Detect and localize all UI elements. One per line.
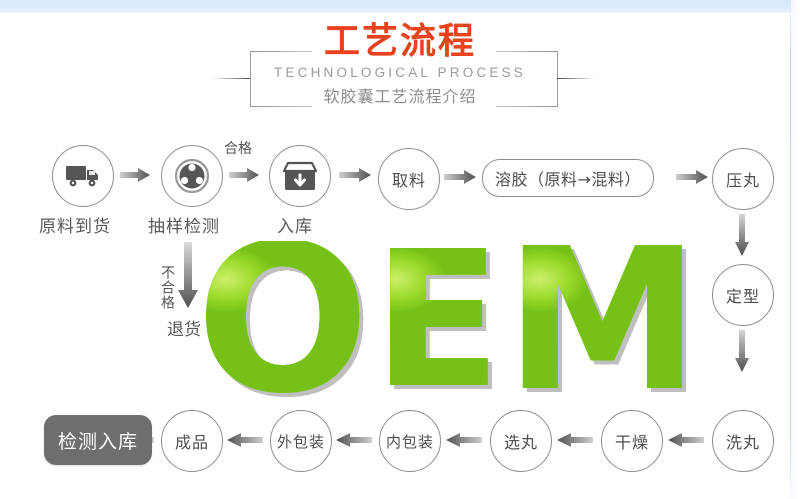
arrow-select-to-inner [446, 433, 482, 447]
arrow-press-to-shaping [735, 214, 749, 256]
arrow-warehouse-to-pick [339, 168, 371, 182]
arrow-pick-to-solgel [444, 170, 476, 184]
arrow-outer-to-finished [227, 433, 263, 447]
node-sampling-inspection[interactable] [161, 145, 223, 207]
node-label-inner-package: 内包装 [386, 431, 434, 452]
node-material-pick[interactable]: 取料 [378, 148, 440, 210]
inbox-down-icon [283, 160, 317, 192]
arrow-sampling-to-warehouse [229, 168, 259, 182]
arrow-wash-to-drying [668, 433, 704, 447]
node-inspect-stock-in[interactable]: 检测入库 [44, 415, 152, 465]
process-flow-infographic: 工艺流程 TECHNOLOGICAL PROCESS 软胶囊工艺流程介绍 O E… [0, 0, 800, 499]
oem-watermark: O E M [196, 238, 696, 403]
node-press-pill[interactable]: 压丸 [712, 148, 774, 210]
node-label-drying: 干燥 [615, 429, 649, 453]
truck-icon [65, 163, 101, 189]
node-wash-pill[interactable]: 洗丸 [712, 410, 774, 472]
header: 工艺流程 TECHNOLOGICAL PROCESS 软胶囊工艺流程介绍 [0, 8, 800, 118]
node-sol-gel[interactable]: 溶胶（原料→混料） [482, 159, 654, 197]
node-label-sol-gel: 溶胶（原料→混料） [495, 166, 641, 190]
caption-sampling-inspection: 抽样检测 [148, 212, 220, 237]
caption-raw-arrival: 原料到货 [39, 212, 111, 237]
arrow-raw-to-sampling [120, 168, 150, 182]
arrow-solgel-to-press [676, 170, 708, 184]
node-label-outer-package: 外包装 [277, 431, 325, 452]
node-drying[interactable]: 干燥 [601, 410, 663, 472]
node-label-press-pill: 压丸 [726, 167, 760, 191]
node-label-wash-pill: 洗丸 [726, 429, 760, 453]
arrow-inner-to-outer [336, 433, 372, 447]
node-select-pill[interactable]: 选丸 [490, 410, 552, 472]
node-label-select-pill: 选丸 [504, 429, 538, 453]
inspection-icon [174, 158, 210, 194]
node-label-shaping: 定型 [726, 283, 760, 307]
node-inner-package[interactable]: 内包装 [379, 410, 441, 472]
node-shaping[interactable]: 定型 [712, 264, 774, 326]
branch-label-fail: 不合格 [157, 265, 177, 310]
arrow-shaping-to-wash [735, 330, 749, 372]
branch-label-return: 退货 [167, 315, 201, 340]
node-finished-goods[interactable]: 成品 [161, 410, 223, 472]
node-label-inspect-stock-in: 检测入库 [58, 427, 138, 454]
node-raw-arrival[interactable] [52, 145, 114, 207]
arrow-drying-to-select [557, 433, 593, 447]
watermark-letter-o: O [196, 241, 365, 401]
page-subtitle-en: TECHNOLOGICAL PROCESS [0, 65, 800, 81]
node-label-finished-goods: 成品 [175, 429, 209, 453]
caption-warehouse-in: 入库 [277, 212, 313, 237]
node-label-material-pick: 取料 [392, 167, 426, 191]
watermark-letter-m: M [505, 241, 696, 401]
page-subtitle-cn: 软胶囊工艺流程介绍 [0, 87, 800, 107]
page-title: 工艺流程 [0, 22, 800, 62]
node-warehouse-in[interactable] [269, 145, 331, 207]
branch-label-pass: 合格 [224, 138, 252, 158]
node-outer-package[interactable]: 外包装 [270, 410, 332, 472]
watermark-letter-e: E [373, 241, 497, 401]
arrow-fail-to-return [178, 242, 198, 308]
